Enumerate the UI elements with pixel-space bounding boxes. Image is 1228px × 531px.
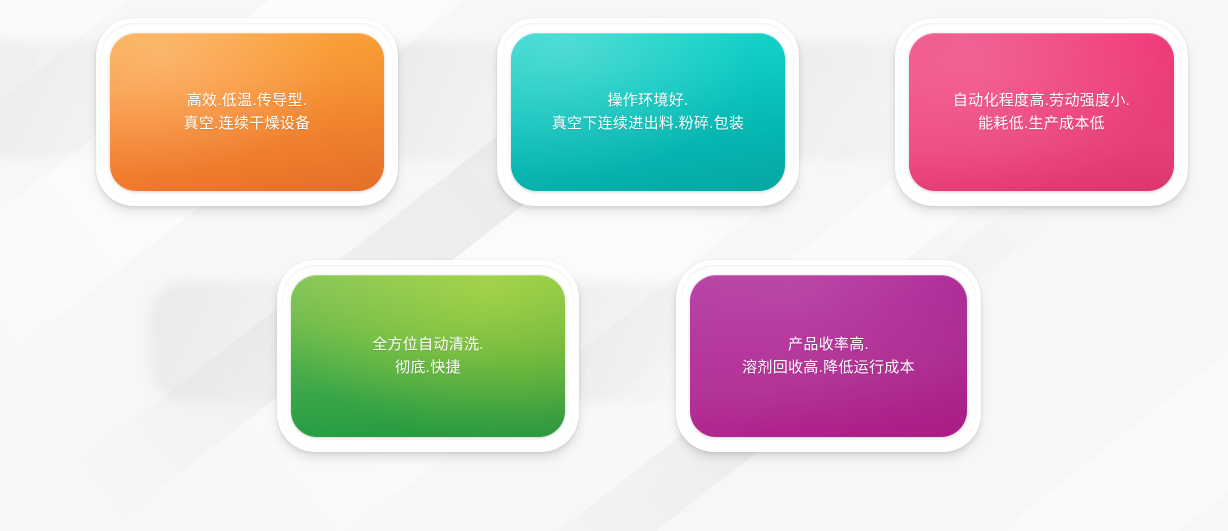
card-color-panel-green: 全方位自动清洗. 彻底.快捷 [291, 275, 565, 437]
card-color-panel-pink: 自动化程度高.劳动强度小. 能耗低.生产成本低 [909, 33, 1174, 191]
feature-card-automation[interactable]: 自动化程度高.劳动强度小. 能耗低.生产成本低 [895, 18, 1188, 206]
card-text-efficiency: 高效.低温.传导型. 真空.连续干燥设备 [168, 89, 327, 135]
card-color-panel-purple: 产品收率高. 溶剂回收高.降低运行成本 [690, 275, 967, 437]
card-text-operating-environment: 操作环境好. 真空下连续进出料.粉碎.包装 [536, 89, 761, 135]
card-color-panel-orange: 高效.低温.传导型. 真空.连续干燥设备 [110, 33, 384, 191]
feature-card-grid: 高效.低温.传导型. 真空.连续干燥设备 操作环境好. 真空下连续进出料.粉碎.… [0, 0, 1228, 531]
card-text-automation: 自动化程度高.劳动强度小. 能耗低.生产成本低 [937, 89, 1146, 135]
card-color-panel-teal: 操作环境好. 真空下连续进出料.粉碎.包装 [511, 33, 785, 191]
feature-card-auto-cleaning[interactable]: 全方位自动清洗. 彻底.快捷 [277, 260, 579, 452]
card-text-auto-cleaning: 全方位自动清洗. 彻底.快捷 [356, 333, 500, 379]
card-text-product-yield: 产品收率高. 溶剂回收高.降低运行成本 [726, 333, 931, 379]
feature-card-product-yield[interactable]: 产品收率高. 溶剂回收高.降低运行成本 [676, 260, 981, 452]
feature-card-operating-environment[interactable]: 操作环境好. 真空下连续进出料.粉碎.包装 [497, 18, 799, 206]
feature-card-efficiency[interactable]: 高效.低温.传导型. 真空.连续干燥设备 [96, 18, 398, 206]
